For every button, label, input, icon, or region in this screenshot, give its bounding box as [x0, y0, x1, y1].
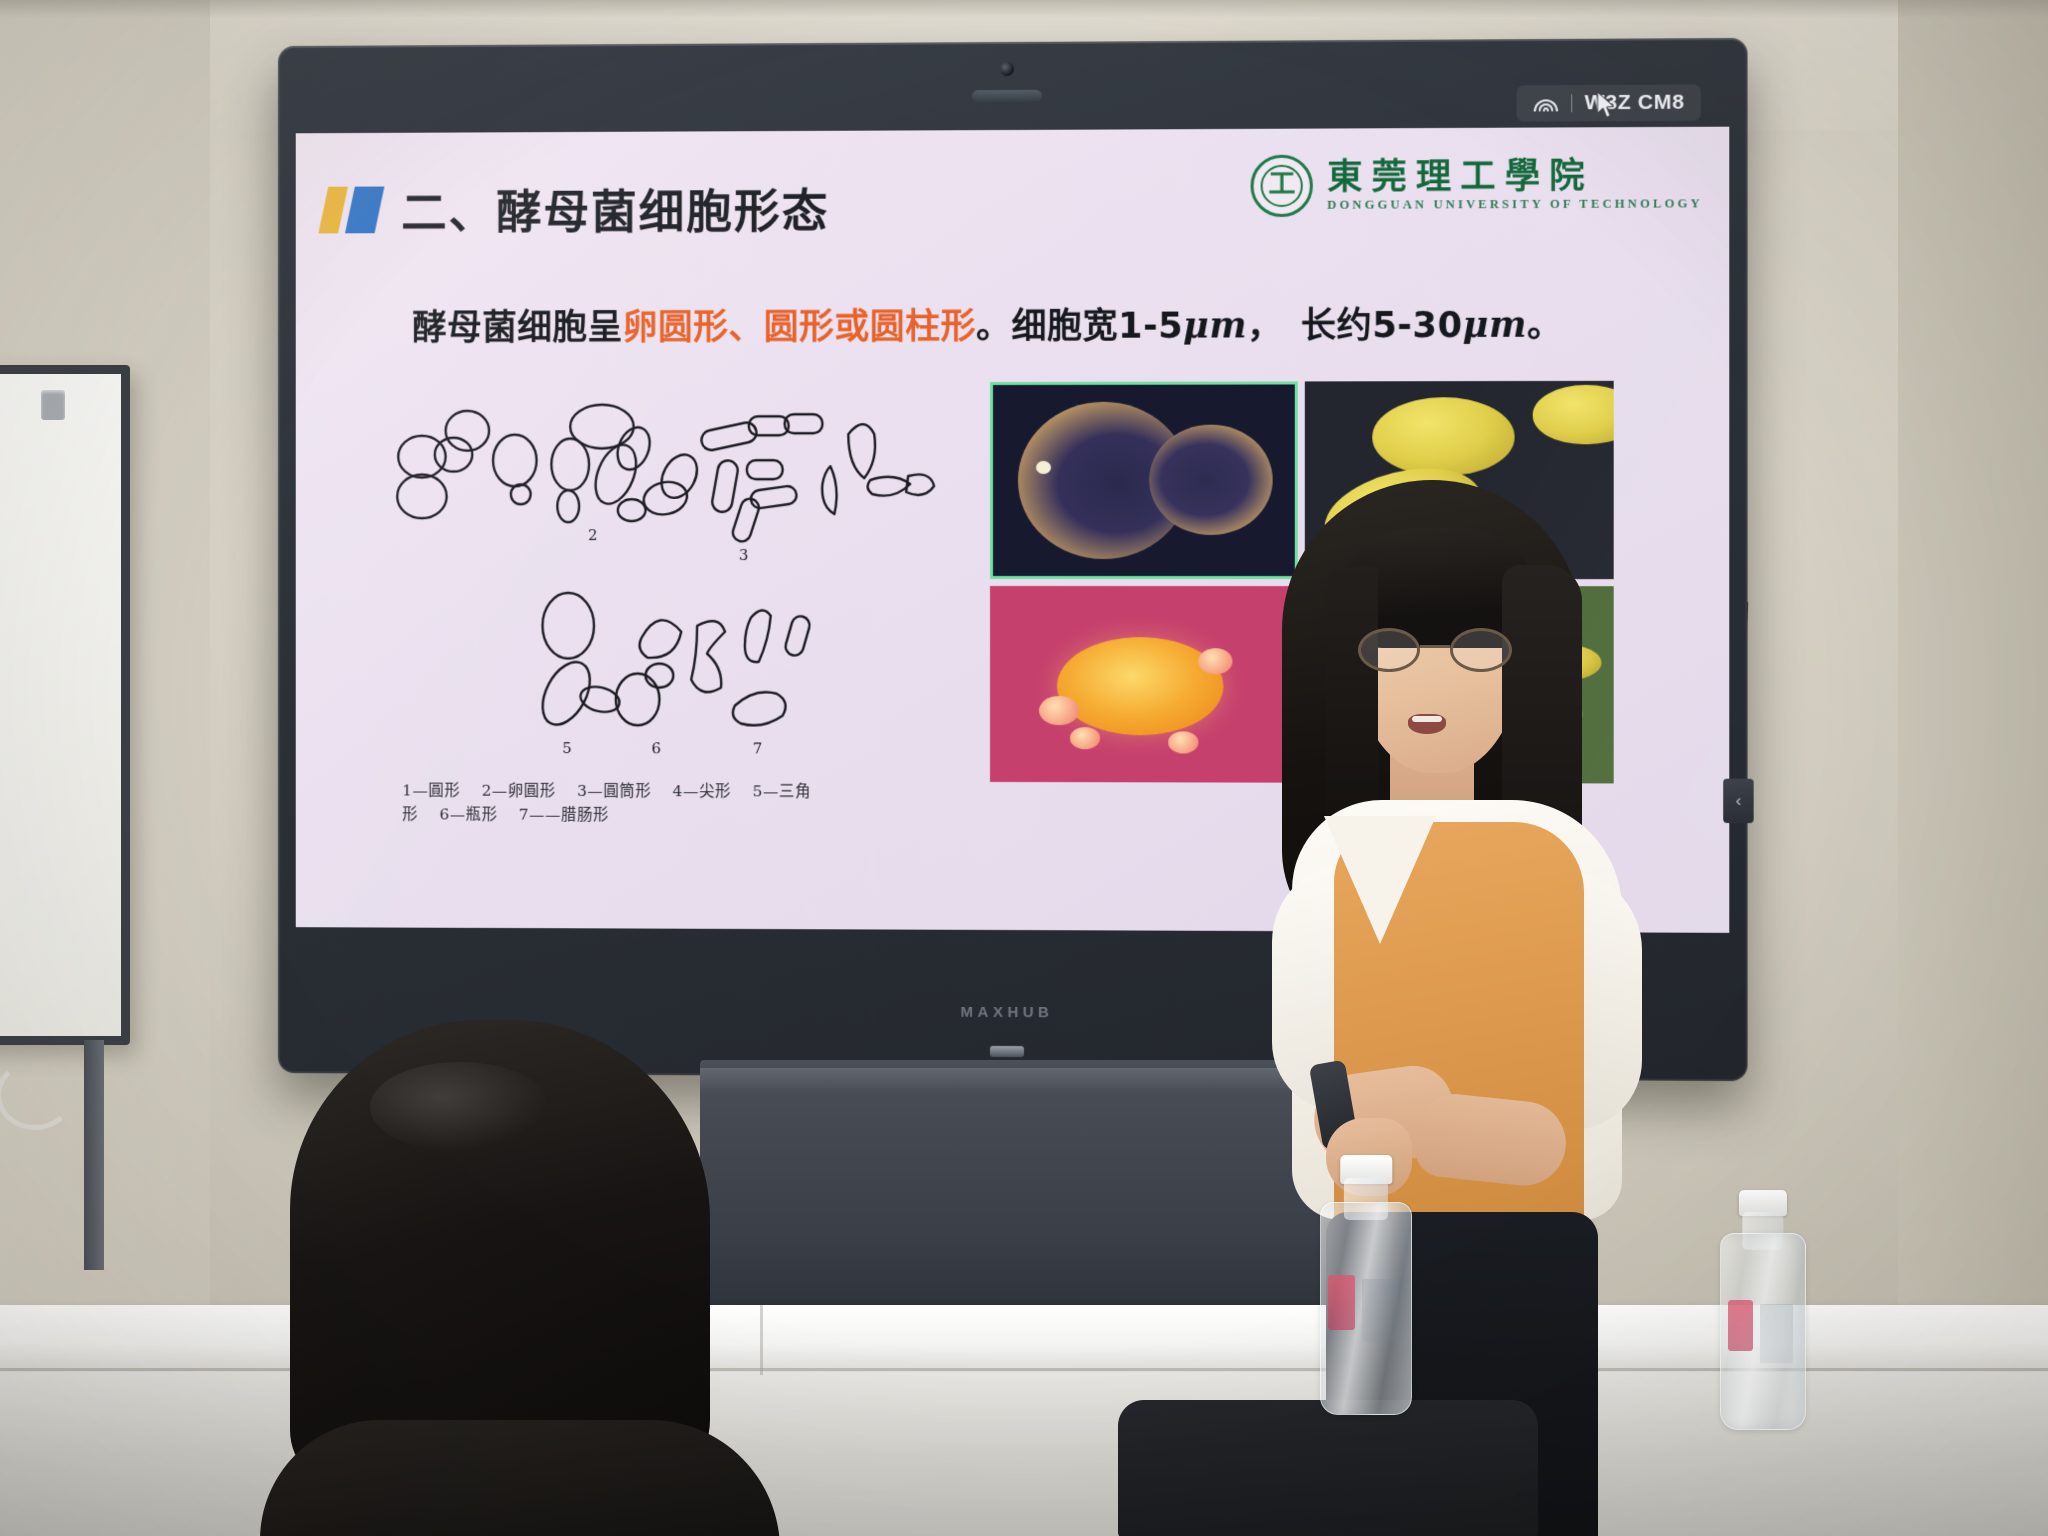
whiteboard-clip: [41, 390, 65, 420]
svg-text:5: 5: [562, 739, 571, 757]
bottle-label: [1328, 1275, 1355, 1330]
display-brand-label: MAXHUB: [961, 1004, 1054, 1021]
whiteboard: [0, 365, 130, 1045]
right-wall-edge: [1898, 0, 2048, 1340]
desk-panel-divider: [760, 1305, 763, 1375]
figure-caption: 1—圓形 2—卵圓形 3—圓筒形 4—尖形 5—三角 形 6—瓶形 7——腊肠形: [402, 779, 938, 828]
statement-lead: 酵母菌细胞呈: [412, 308, 623, 348]
statement-unit-1: μm: [1183, 305, 1247, 346]
display-side-button[interactable]: ‹: [1723, 779, 1753, 823]
bottle-label-secondary: [1362, 1279, 1398, 1342]
presenter: [1230, 470, 1660, 1536]
water-bottle-left: [1320, 1155, 1412, 1415]
status-divider: [1571, 94, 1572, 112]
bottle-label-secondary: [1760, 1304, 1794, 1362]
student-hair-highlight: [370, 1062, 550, 1152]
university-name-cn: 東莞理工學院: [1327, 158, 1703, 195]
display-camera: [1000, 62, 1014, 76]
presenter-vest-neckline: [1324, 816, 1436, 944]
svg-text:2: 2: [588, 526, 597, 544]
ceiling-shadow: [0, 0, 2048, 18]
bud-knob: [1039, 696, 1079, 726]
slide-title-row: 二、酵母菌细胞形态: [323, 175, 829, 243]
seated-student-foreground: [290, 1020, 750, 1536]
statement-tail-2: ， 长约5-30: [1247, 306, 1463, 347]
foreground-chair: [1118, 1400, 1538, 1536]
slide-body-statement: 酵母菌细胞呈卵圆形、圆形或圆柱形。细胞宽1-5μm， 长约5-30μm。: [412, 296, 1683, 350]
classroom-scene: W3Z CM8 二、酵母菌细胞形态 工 東莞理工學院: [0, 0, 2048, 1536]
svg-text:3: 3: [739, 546, 748, 564]
bud-knob: [1070, 727, 1101, 749]
statement-tail-3: 。: [1527, 305, 1563, 345]
lemon-cell: [1372, 397, 1514, 476]
glasses-bridge: [1420, 645, 1450, 648]
glasses-lens-right: [1450, 628, 1512, 672]
svg-text:6: 6: [652, 739, 661, 757]
yellow-mark-icon: [318, 186, 348, 233]
figure-caption-line-1: 1—圓形 2—卵圓形 3—圓筒形 4—尖形 5—三角: [402, 779, 938, 804]
bottle-body: [1320, 1202, 1412, 1415]
statement-tail-1: 。细胞宽1-5: [976, 307, 1183, 348]
bud-knob: [1199, 649, 1233, 675]
water-bottle-right: [1720, 1190, 1806, 1430]
bud-knob: [1168, 731, 1199, 753]
glasses-icon: [1354, 628, 1522, 672]
presenter-mouth: [1408, 714, 1446, 734]
page-title: 二、酵母菌细胞形态: [401, 175, 829, 242]
university-logo: 工 東莞理工學院 DONGGUAN UNIVERSITY OF TECHNOLO…: [1251, 153, 1703, 217]
lemon-cell: [1533, 385, 1614, 444]
whiteboard-leg: [84, 1040, 104, 1270]
student-shoulders: [260, 1420, 780, 1536]
display-power-led: [990, 1046, 1024, 1057]
seal-glyph: 工: [1268, 171, 1295, 198]
bottle-body: [1720, 1233, 1806, 1430]
glasses-lens-left: [1358, 628, 1420, 672]
whiteboard-surface: [0, 374, 121, 1036]
university-name-en: DONGGUAN UNIVERSITY OF TECHNOLOGY: [1327, 196, 1703, 213]
display-sensor-strip: [972, 90, 1042, 102]
statement-highlight: 卵圆形、圆形或圆柱形: [623, 307, 976, 348]
bottle-label: [1728, 1300, 1753, 1351]
wifi-icon[interactable]: [1533, 93, 1559, 113]
yeast-shape-line-drawings: 2 3: [382, 388, 938, 808]
university-seal-icon: 工: [1251, 155, 1313, 217]
figure-caption-line-2: 形 6—瓶形 7——腊肠形: [402, 802, 938, 827]
orange-yeast-cell: [1057, 637, 1223, 736]
blue-mark-icon: [345, 186, 384, 233]
title-accent-marks: [323, 186, 379, 233]
svg-text:7: 7: [753, 739, 762, 757]
statement-unit-2: μm: [1463, 305, 1527, 346]
university-name-block: 東莞理工學院 DONGGUAN UNIVERSITY OF TECHNOLOGY: [1327, 158, 1703, 213]
